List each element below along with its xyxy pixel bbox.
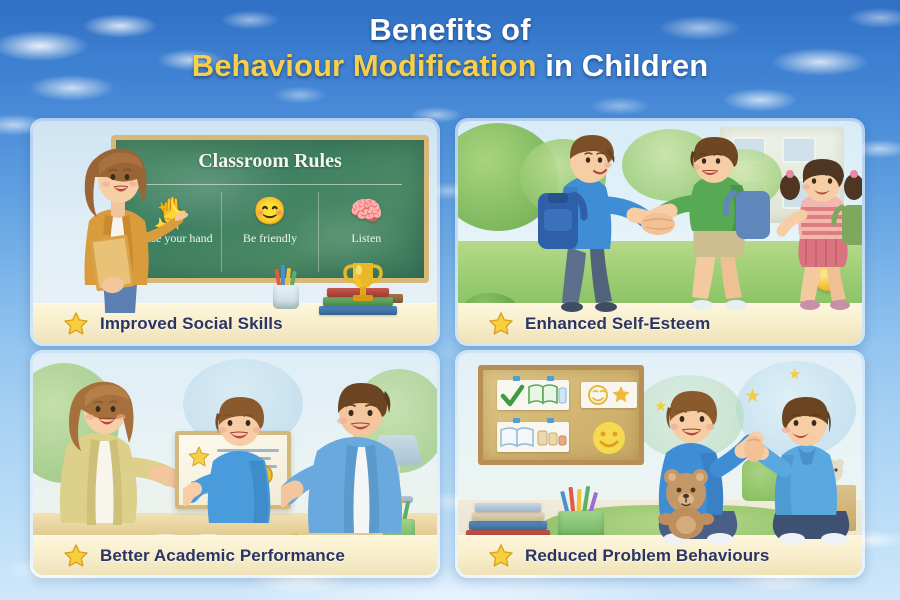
smiley-face-icon: 😊 [253, 198, 287, 225]
book-stack [466, 497, 550, 539]
benefit-panel-improved-social-skills[interactable]: Classroom Rules ✋ Raise your hand 😊 Be f… [30, 118, 440, 346]
teacher-figure [59, 137, 199, 313]
panel-caption: Better Academic Performance [33, 535, 437, 575]
pencil-cup [558, 491, 604, 539]
gold-star-icon [488, 311, 514, 337]
handshake-icon [634, 207, 682, 241]
title-highlight: Behaviour Modification [192, 48, 537, 83]
sparkle-star-icon: ★ [788, 365, 801, 383]
classroom-rule-3-label: Listen [351, 232, 381, 245]
cork-board [478, 365, 644, 465]
gold-star-icon [63, 311, 89, 337]
boy-figure [183, 389, 299, 539]
poster-title: Benefits of Behaviour Modification in Ch… [0, 14, 900, 83]
benefit-panel-enhanced-self-esteem[interactable]: Enhanced Self-Esteem [455, 118, 865, 346]
open-book-icon [497, 422, 569, 452]
classroom-rule-2: 😊 Be friendly [221, 192, 317, 272]
trophy-icon [341, 259, 385, 307]
infographic-poster: Benefits of Behaviour Modification in Ch… [0, 0, 900, 600]
benefit-panel-better-academic-performance[interactable]: Better Academic Performance [30, 350, 440, 578]
mother-figure [41, 367, 177, 537]
title-line-2-rest: in Children [545, 48, 708, 83]
caption-label: Improved Social Skills [100, 314, 283, 334]
high-five-icon [736, 431, 772, 467]
smiley-face-icon [589, 418, 629, 458]
benefit-panel-reduced-problem-behaviours[interactable]: ★ ★ ★ ★ [455, 350, 865, 578]
boy-with-teddy-figure [626, 389, 774, 555]
title-line-1: Benefits of [369, 12, 530, 47]
book-supplies-card [497, 422, 569, 452]
girl-striped-top-figure [768, 157, 862, 319]
checkmark-icon [497, 380, 569, 410]
gold-star-icon [63, 543, 89, 569]
father-figure [281, 369, 431, 541]
gold-star-icon [488, 543, 514, 569]
pencil-cup [273, 269, 299, 309]
classroom-rule-2-label: Be friendly [243, 232, 297, 245]
checkmark-card [497, 380, 569, 410]
listening-head-icon: 🧠 [350, 198, 384, 225]
caption-label: Better Academic Performance [100, 546, 345, 566]
